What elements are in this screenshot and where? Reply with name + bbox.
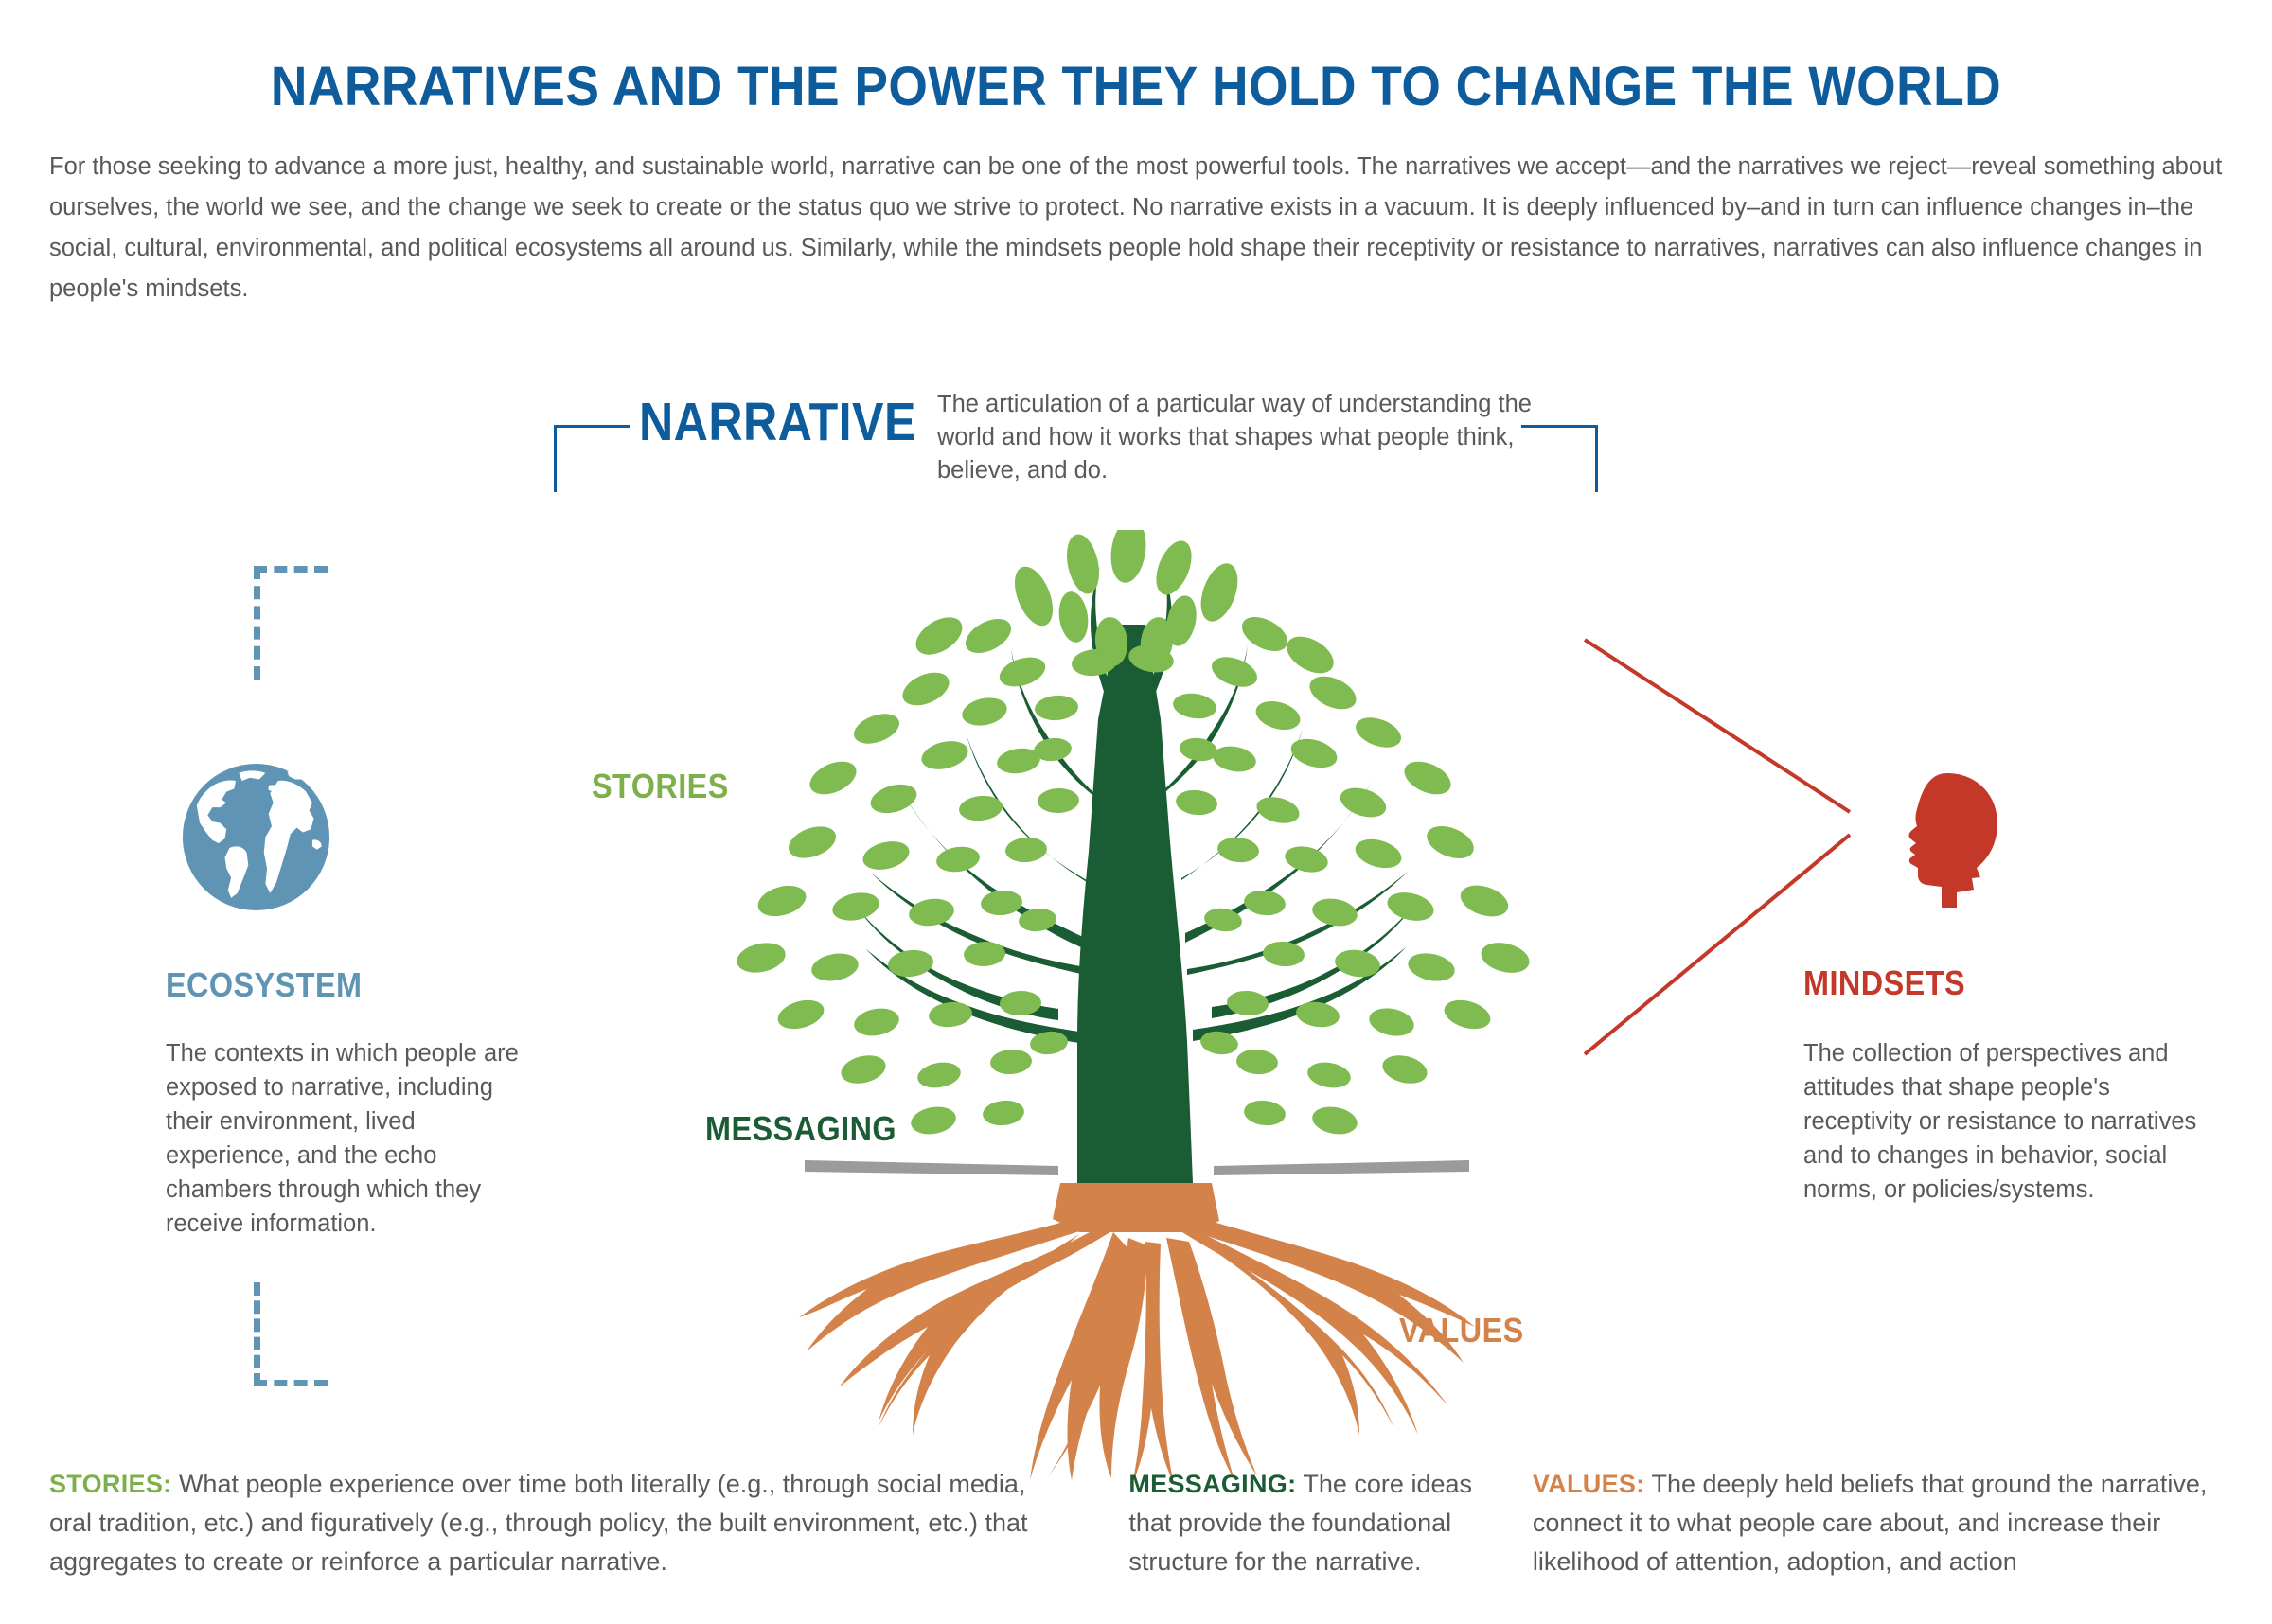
legend-item-values: VALUES: The deeply held beliefs that gro…	[1533, 1465, 2245, 1581]
narrative-description: The articulation of a particular way of …	[937, 388, 1543, 487]
legend-text-stories: What people experience over time both li…	[49, 1470, 1028, 1576]
globe-icon	[178, 759, 334, 915]
narrative-title: NARRATIVE	[639, 391, 916, 453]
narrative-bracket-left-icon	[554, 425, 630, 492]
ecosystem-description: The contexts in which people are exposed…	[166, 1036, 544, 1241]
legend-term-values: VALUES:	[1533, 1470, 1645, 1498]
bottom-legend: STORIES: What people experience over tim…	[49, 1465, 2245, 1581]
legend-item-stories: STORIES: What people experience over tim…	[49, 1465, 1048, 1581]
intro-paragraph: For those seeking to advance a more just…	[49, 147, 2227, 309]
ecosystem-bracket-bottom-vertical-icon	[254, 1282, 260, 1386]
narrative-definition-block: NARRATIVE The articulation of a particul…	[554, 383, 1638, 516]
legend-item-messaging: MESSAGING: The core ideas that provide t…	[1128, 1465, 1490, 1581]
stories-label: STORIES	[592, 767, 729, 806]
head-profile-icon	[1889, 771, 2002, 918]
messaging-label: MESSAGING	[705, 1109, 896, 1149]
ecosystem-bracket-top-horizontal-icon	[254, 566, 328, 573]
ecosystem-bracket-top-vertical-icon	[254, 566, 260, 680]
legend-term-messaging: MESSAGING:	[1128, 1470, 1296, 1498]
legend-term-stories: STORIES:	[49, 1470, 171, 1498]
ecosystem-label: ECOSYSTEM	[166, 965, 362, 1005]
page-title: NARRATIVES AND THE POWER THEY HOLD TO CH…	[91, 55, 2181, 118]
mindsets-description: The collection of perspectives and attit…	[1803, 1036, 2201, 1207]
ecosystem-bracket-bottom-horizontal-icon	[254, 1380, 328, 1386]
mindsets-arrow-icon	[1581, 634, 1922, 1069]
mindsets-label: MINDSETS	[1803, 963, 1965, 1003]
values-label: VALUES	[1399, 1311, 1524, 1350]
